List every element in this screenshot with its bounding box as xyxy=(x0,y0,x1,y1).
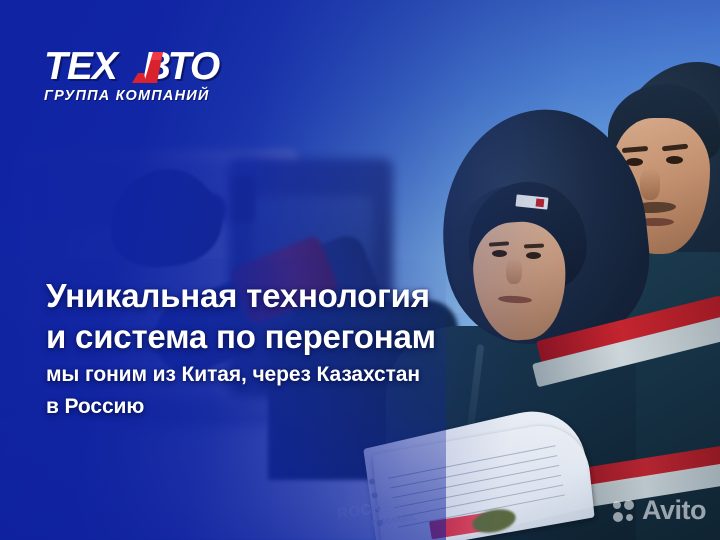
headline-line-1: Уникальная технология xyxy=(46,276,516,317)
company-logo[interactable]: ТЕХВТО ГРУППА КОМПАНИЙ xyxy=(44,48,259,106)
avito-wordmark: Avito xyxy=(642,495,706,526)
banner-canvas: ROCKET ROCKET MONGOL ТЕХВТО ГРУППА КОМПА… xyxy=(0,0,720,540)
logo-wordmark: ТЕХВТО xyxy=(44,48,259,86)
logo-word-part1: ТЕХ xyxy=(44,45,117,88)
avito-dots-icon xyxy=(613,500,635,522)
logo-red-a-icon xyxy=(130,49,166,85)
headline-line-2: и система по перегонам xyxy=(46,317,516,358)
avito-watermark: Avito xyxy=(613,495,706,526)
subheadline-line-2: в Россию xyxy=(46,394,516,421)
logo-subtitle: ГРУППА КОМПАНИЙ xyxy=(44,88,259,104)
headline-block: Уникальная технология и система по перег… xyxy=(46,276,516,421)
subheadline-line-1: мы гоним из Китая, через Казахстан xyxy=(46,362,516,389)
